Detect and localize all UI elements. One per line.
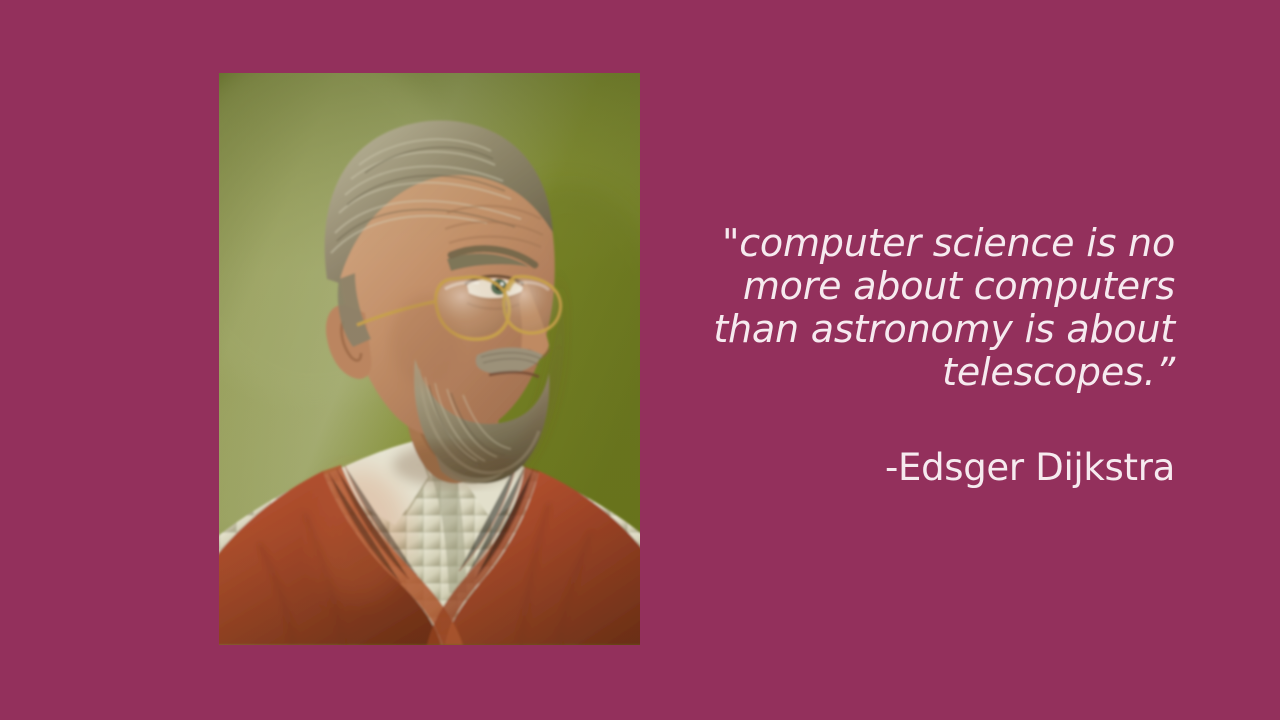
portrait-illustration bbox=[219, 73, 640, 645]
portrait-photo bbox=[219, 73, 640, 645]
quote-text: "computer science is no more about compu… bbox=[640, 222, 1175, 394]
quote-line-1: "computer science is no bbox=[640, 222, 1175, 265]
quote-line-2: more about computers bbox=[640, 265, 1175, 308]
quote-line-4: telescopes.” bbox=[640, 351, 1175, 394]
quote-slide: "computer science is no more about compu… bbox=[0, 0, 1280, 720]
quote-line-3: than astronomy is about bbox=[640, 308, 1175, 351]
quote-attribution: -Edsger Dijkstra bbox=[640, 446, 1175, 490]
